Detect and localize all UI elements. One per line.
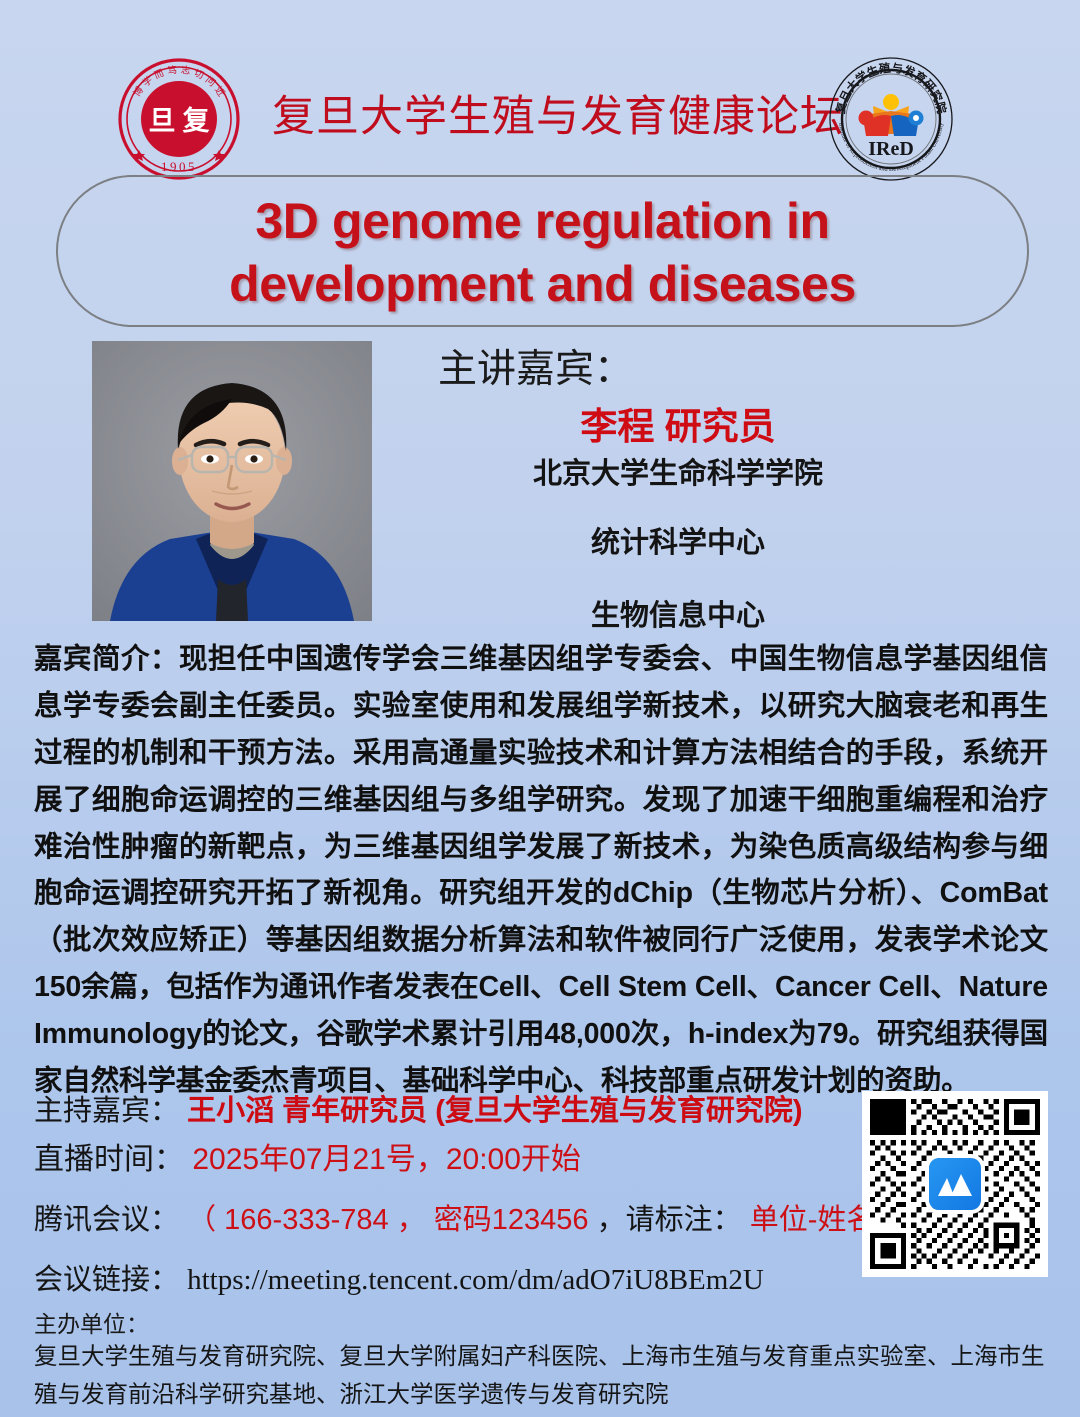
speaker-affiliation-3: 生物信息中心 bbox=[398, 592, 958, 634]
meeting-separator-2: ，请标注： bbox=[597, 1204, 742, 1236]
meeting-label: 腾讯会议： bbox=[34, 1204, 179, 1236]
ired-abbr: IReD bbox=[868, 138, 914, 160]
meeting-id: 166-333-784 bbox=[224, 1204, 388, 1236]
time-value: 2025年07月21号，20:00开始 bbox=[192, 1143, 581, 1176]
svg-text:笃: 笃 bbox=[167, 64, 178, 77]
title-line-2: development and diseases bbox=[56, 253, 1029, 316]
time-label: 直播时间： bbox=[34, 1143, 184, 1176]
organizers-list: 复旦大学生殖与发育研究院、复旦大学附属妇产科医院、上海市生殖与发育重点实验室、上… bbox=[34, 1337, 1048, 1413]
speaker-name: 李程 研究员 bbox=[398, 396, 958, 450]
meeting-password: 密码123456 bbox=[434, 1204, 589, 1236]
meeting-separator-1: ， bbox=[397, 1204, 426, 1236]
svg-text:志: 志 bbox=[180, 64, 191, 77]
meeting-link-line: 会议链接： https://meeting.tencent.com/dm/adO… bbox=[34, 1256, 764, 1298]
svg-text:复: 复 bbox=[183, 106, 211, 136]
meeting-link-url[interactable]: https://meeting.tencent.com/dm/adO7iU8BE… bbox=[187, 1264, 764, 1296]
speaker-label: 主讲嘉宾： bbox=[438, 338, 633, 394]
host-label: 主持嘉宾： bbox=[34, 1095, 179, 1127]
ired-institute-logo-icon: 复旦大学生殖与发育研究院 Institute of Reproduction a… bbox=[828, 56, 954, 182]
tencent-meeting-logo-icon bbox=[929, 1158, 981, 1210]
svg-text:问: 问 bbox=[203, 74, 218, 89]
speaker-bio: 嘉宾简介：现担任中国遗传学会三维基因组学专委会、中国生物信息学基因组信息学专委会… bbox=[34, 636, 1048, 1105]
meeting-open-paren: （ bbox=[187, 1204, 216, 1236]
speaker-portrait bbox=[92, 341, 372, 621]
tencent-meeting-qr-code[interactable] bbox=[862, 1091, 1048, 1277]
speaker-affiliation-2: 统计科学中心 bbox=[398, 519, 958, 561]
host-name: 王小滔 青年研究员 (复旦大学生殖与发育研究院) bbox=[187, 1095, 802, 1127]
svg-text:学: 学 bbox=[140, 74, 155, 89]
svg-text:旦: 旦 bbox=[149, 106, 176, 136]
svg-text:近: 近 bbox=[212, 84, 228, 99]
link-label: 会议链接： bbox=[34, 1264, 179, 1296]
page-title: 3D genome regulation in development and … bbox=[56, 190, 1029, 316]
poster-header: 旦 复 博 学 而 笃 志 切 问 近 1905 复旦大学生殖与发育健康论坛 bbox=[0, 22, 1080, 167]
broadcast-time-line: 直播时间： 2025年07月21号，20:00开始 bbox=[34, 1134, 581, 1178]
organizers-label: 主办单位： bbox=[34, 1305, 149, 1339]
host-line: 主持嘉宾： 王小滔 青年研究员 (复旦大学生殖与发育研究院) bbox=[34, 1087, 803, 1129]
speaker-affiliation-1: 北京大学生命科学学院 bbox=[398, 450, 958, 492]
forum-title: 复旦大学生殖与发育健康论坛 bbox=[272, 94, 812, 141]
title-line-1: 3D genome regulation in bbox=[56, 190, 1029, 253]
fudan-university-seal-icon: 旦 复 博 学 而 笃 志 切 问 近 1905 bbox=[118, 58, 240, 180]
meeting-info-line: 腾讯会议： （ 166-333-784 ， 密码123456 ，请标注： 单位-… bbox=[34, 1196, 912, 1238]
svg-text:1905: 1905 bbox=[161, 159, 197, 174]
meeting-note: 单位-姓名 bbox=[750, 1204, 876, 1236]
